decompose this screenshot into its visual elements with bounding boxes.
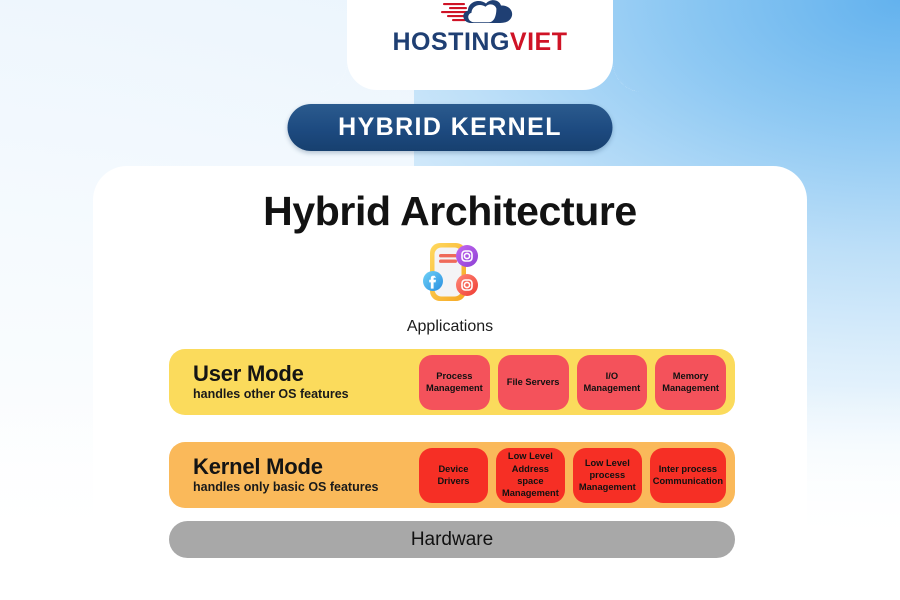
band-kernel-mode: Kernel Mode handles only basic OS featur… xyxy=(169,442,735,508)
feature-box[interactable]: I/O Management xyxy=(577,355,648,410)
hybrid-kernel-badge: HYBRID KERNEL xyxy=(288,104,613,151)
cloud-speed-icon xyxy=(441,0,519,28)
band-user-mode-boxes: Process Management File Servers I/O Mana… xyxy=(419,355,735,410)
hardware-label: Hardware xyxy=(411,529,493,551)
header-panel: HOSTINGVIET xyxy=(347,0,613,90)
applications-label: Applications xyxy=(407,318,493,336)
feature-box[interactable]: Memory Management xyxy=(655,355,726,410)
band-user-mode-title: User Mode xyxy=(193,362,419,386)
band-kernel-mode-subtitle: handles only basic OS features xyxy=(193,480,419,495)
brand-name-part-1: HOSTING xyxy=(393,28,510,56)
header-concave-corner-right xyxy=(613,62,643,92)
feature-box[interactable]: Low Level Address space Management xyxy=(496,448,565,503)
band-user-mode-text: User Mode handles other OS features xyxy=(169,362,419,403)
applications-block: Applications xyxy=(93,236,807,336)
hardware-bar: Hardware xyxy=(169,521,735,558)
band-user-mode-subtitle: handles other OS features xyxy=(193,387,419,402)
hybrid-kernel-badge-label: HYBRID KERNEL xyxy=(338,113,562,142)
header-concave-corner-left xyxy=(317,62,347,92)
feature-box[interactable]: Inter process Communication xyxy=(650,448,726,503)
brand-logo[interactable]: HOSTINGVIET xyxy=(347,0,613,55)
band-kernel-mode-text: Kernel Mode handles only basic OS featur… xyxy=(169,455,419,496)
band-kernel-mode-title: Kernel Mode xyxy=(193,455,419,479)
band-user-mode: User Mode handles other OS features Proc… xyxy=(169,349,735,415)
brand-name-part-2: VIET xyxy=(510,28,568,56)
brand-wordmark: HOSTINGVIET xyxy=(393,30,568,55)
feature-box[interactable]: Device Drivers xyxy=(419,448,488,503)
feature-box[interactable]: File Servers xyxy=(498,355,569,410)
feature-box[interactable]: Low Level process Management xyxy=(573,448,642,503)
mobile-apps-icon xyxy=(413,236,487,314)
architecture-card: Hybrid Architecture xyxy=(93,166,807,600)
feature-box[interactable]: Process Management xyxy=(419,355,490,410)
page-title: Hybrid Architecture xyxy=(93,188,807,235)
band-kernel-mode-boxes: Device Drivers Low Level Address space M… xyxy=(419,448,735,503)
